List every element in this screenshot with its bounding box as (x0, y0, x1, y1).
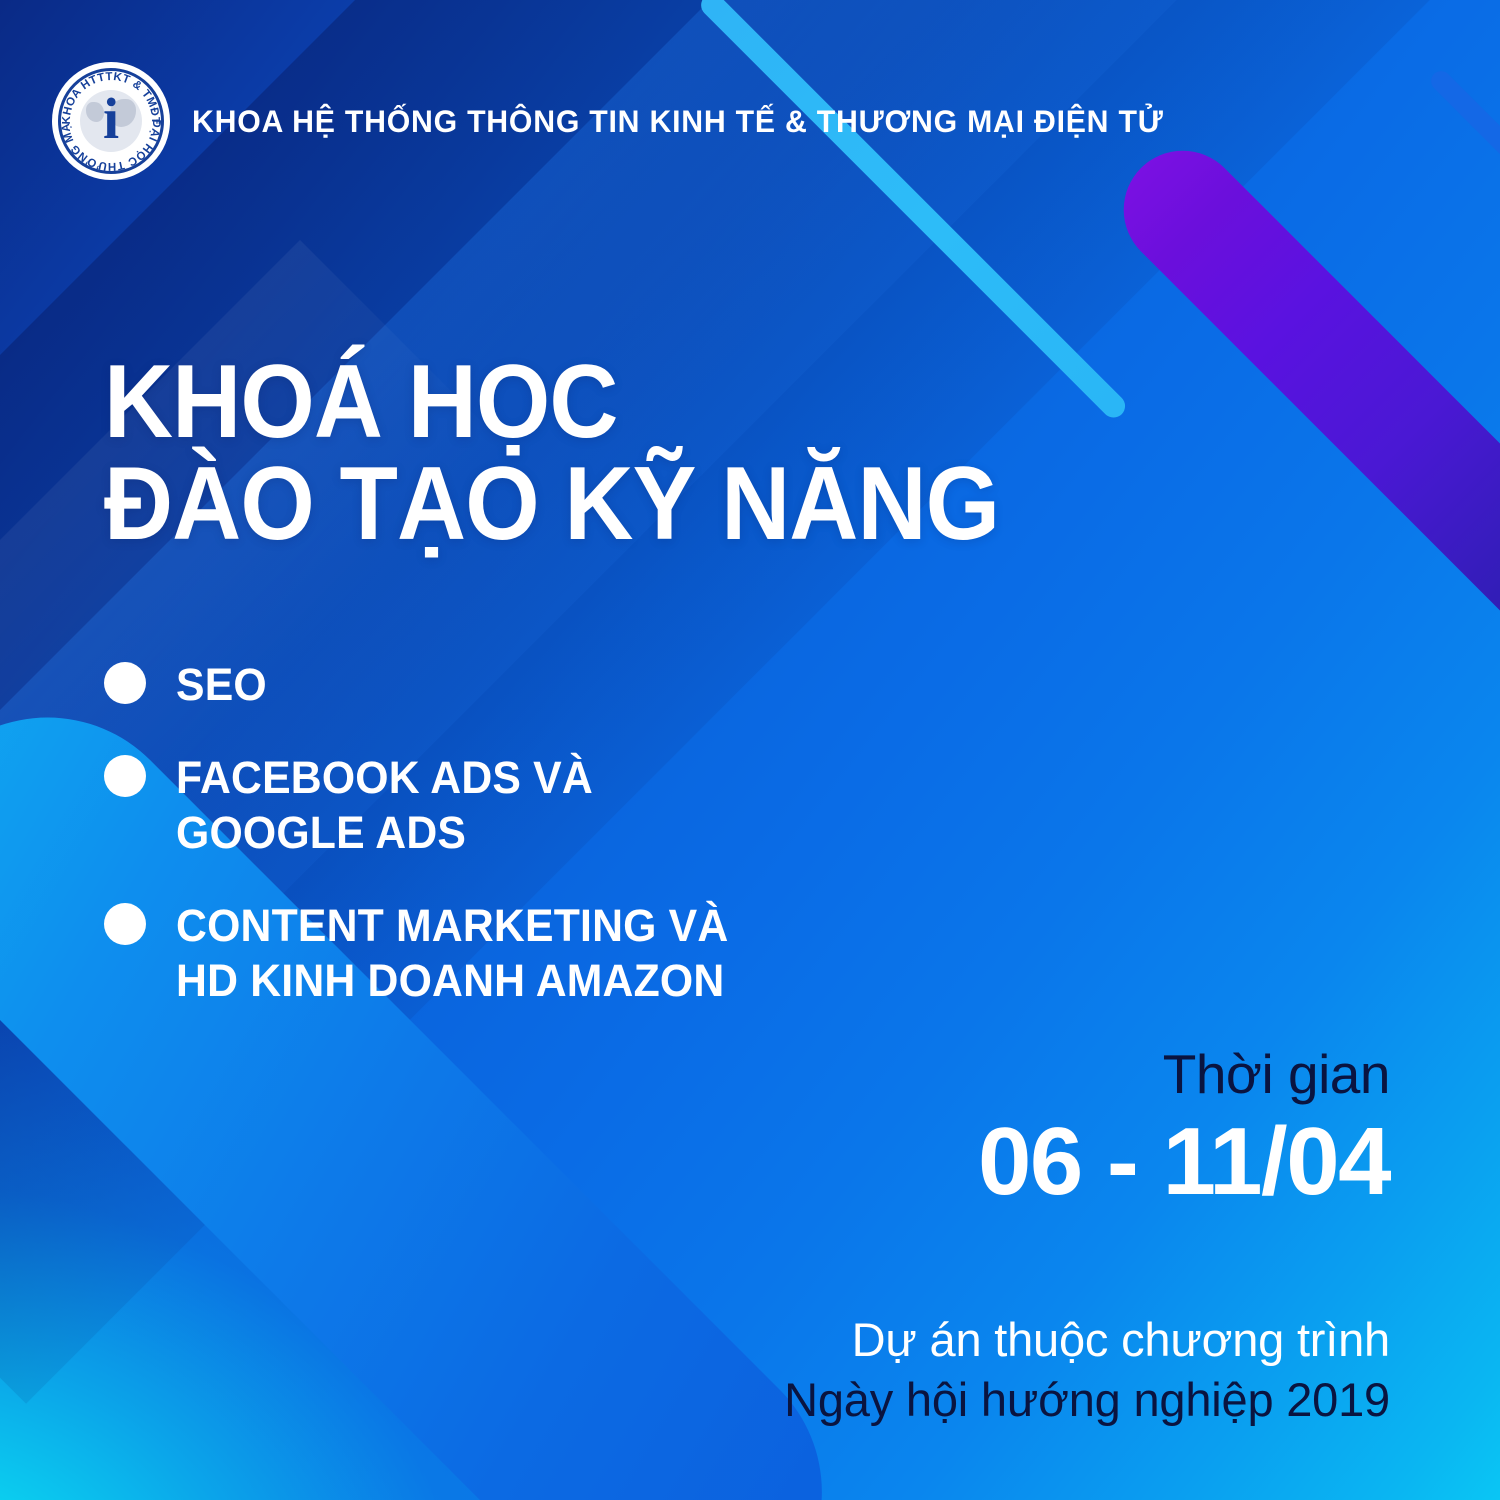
footer-line-2: Ngày hội hướng nghiệp 2019 (784, 1370, 1390, 1430)
bullet-dot-icon (104, 755, 146, 797)
event-date-range: 06 - 11/04 (978, 1110, 1390, 1214)
poster-canvas: i KHOA HTTTKT & TMĐT ĐẠI HỌC THƯƠNG MẠI … (0, 0, 1500, 1500)
bullet-dot-icon (104, 903, 146, 945)
bullet-dot-icon (104, 662, 146, 704)
header: i KHOA HTTTKT & TMĐT ĐẠI HỌC THƯƠNG MẠI … (52, 62, 1204, 180)
footer-line-1: Dự án thuộc chương trình (784, 1310, 1390, 1370)
logo-arc-top-text: KHOA HTTTKT & TMĐT (61, 71, 161, 125)
footer-note: Dự án thuộc chương trình Ngày hội hướng … (784, 1310, 1390, 1430)
event-time-label: Thời gian (978, 1046, 1390, 1104)
organization-title: KHOA HỆ THỐNG THÔNG TIN KINH TẾ & THƯƠNG… (192, 103, 1164, 140)
list-item: SEO (104, 658, 934, 713)
page-title-line-1: KHOÁ HỌC (104, 344, 618, 460)
event-time-block: Thời gian 06 - 11/04 (978, 1046, 1390, 1213)
page-title: KHOÁ HỌC ĐÀO TẠO KỸ NĂNG (104, 352, 999, 556)
list-item-label: CONTENT MARKETING VÀHD KINH DOANH AMAZON (176, 899, 728, 1009)
list-item: CONTENT MARKETING VÀHD KINH DOANH AMAZON (104, 899, 934, 1009)
page-title-line-2: ĐÀO TẠO KỸ NĂNG (104, 454, 999, 556)
blue-diagonal-stroke (1427, 67, 1500, 293)
logo-arc-text-svg: KHOA HTTTKT & TMĐT ĐẠI HỌC THƯƠNG MẠI (52, 62, 170, 180)
list-item-label: SEO (176, 658, 267, 713)
list-item-label: FACEBOOK ADS VÀGOOGLE ADS (176, 751, 593, 861)
list-item: FACEBOOK ADS VÀGOOGLE ADS (104, 751, 934, 861)
university-logo-icon: i KHOA HTTTKT & TMĐT ĐẠI HỌC THƯƠNG MẠI (52, 62, 170, 180)
course-topic-list: SEO FACEBOOK ADS VÀGOOGLE ADS CONTENT MA… (104, 658, 934, 1046)
purple-capsule-shape (1099, 126, 1500, 1044)
